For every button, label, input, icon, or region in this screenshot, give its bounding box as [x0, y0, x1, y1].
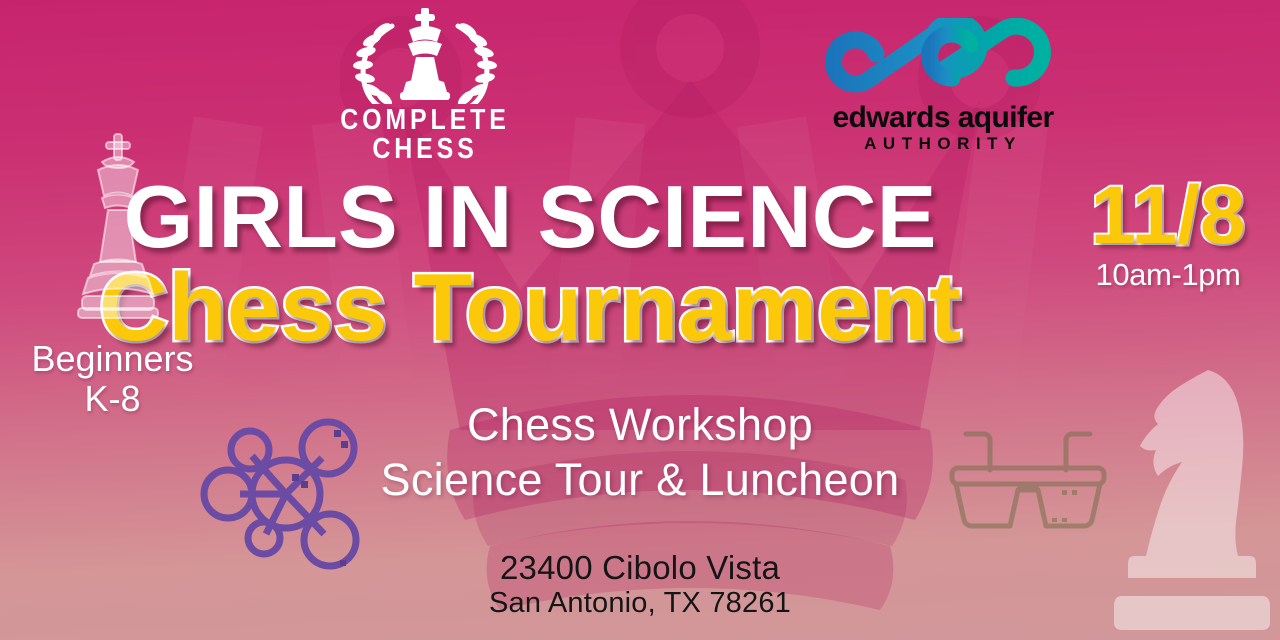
venue-city-state-zip: San Antonio, TX 78261	[0, 587, 1280, 620]
event-flyer: COMPLETE CHESS edwards aquifer AUTHORITY	[0, 0, 1280, 640]
molecule-icon	[200, 408, 372, 580]
event-time: 10am-1pm	[1062, 259, 1274, 290]
chess-king-icon	[58, 128, 178, 338]
eaa-monogram-icon	[824, 18, 1062, 100]
eaa-subtitle: AUTHORITY	[812, 135, 1074, 152]
venue-street: 23400 Cibolo Vista	[0, 549, 1280, 587]
safety-goggles-icon	[944, 420, 1112, 540]
event-date: 11/8	[1062, 178, 1274, 253]
date-block: 11/8 10am-1pm	[1062, 178, 1274, 290]
audience-line-2: K-8	[0, 379, 225, 419]
audience-label: Beginners K-8	[0, 339, 225, 420]
chess-king-laurel-icon	[296, 4, 554, 104]
audience-line-1: Beginners	[0, 339, 225, 379]
chess-knight-icon	[1112, 352, 1272, 640]
complete-chess-wordmark: COMPLETE CHESS	[314, 106, 536, 164]
logo-edwards-aquifer-authority: edwards aquifer AUTHORITY	[812, 18, 1074, 160]
eaa-name: edwards aquifer	[812, 102, 1074, 134]
logo-complete-chess: COMPLETE CHESS	[296, 4, 554, 144]
venue-address: 23400 Cibolo Vista San Antonio, TX 78261	[0, 549, 1280, 620]
